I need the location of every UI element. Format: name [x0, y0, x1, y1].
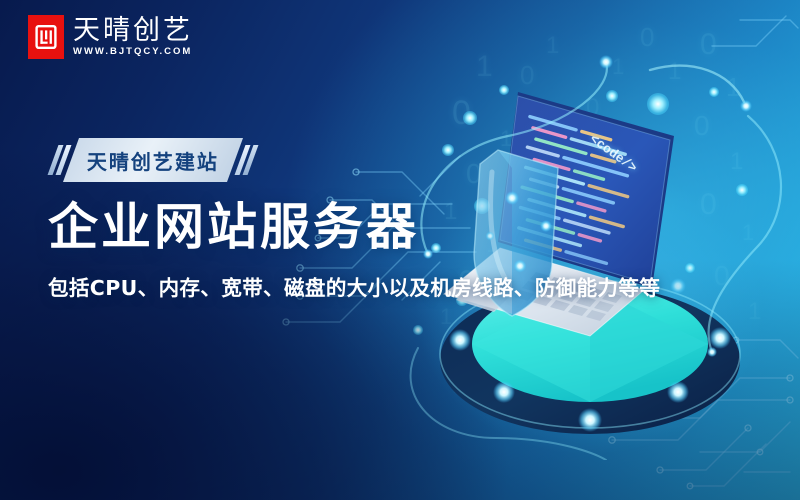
tianqing-square-mark-icon	[28, 15, 64, 59]
page-title: 企业网站服务器	[48, 200, 660, 254]
eyebrow-badge-row: 天晴创艺建站	[48, 138, 660, 182]
copy-block: 天晴创艺建站 企业网站服务器 包括CPU、内存、宽带、磁盘的大小以及机房线路、防…	[48, 138, 660, 301]
site-logo[interactable]: 天晴创艺 WWW.BJTQCY.COM	[28, 15, 193, 59]
eyebrow-badge: 天晴创艺建站	[63, 138, 243, 182]
logo-website-url: WWW.BJTQCY.COM	[73, 47, 193, 57]
eyebrow-badge-label: 天晴创艺建站	[87, 146, 219, 175]
page-subtitle: 包括CPU、内存、宽带、磁盘的大小以及机房线路、防御能力等等	[48, 276, 660, 301]
logo-wordmark: 天晴创艺 WWW.BJTQCY.COM	[73, 17, 193, 57]
logo-company-name: 天晴创艺	[73, 17, 193, 44]
promo-banner: 101011010101010101010101010101	[0, 0, 800, 500]
